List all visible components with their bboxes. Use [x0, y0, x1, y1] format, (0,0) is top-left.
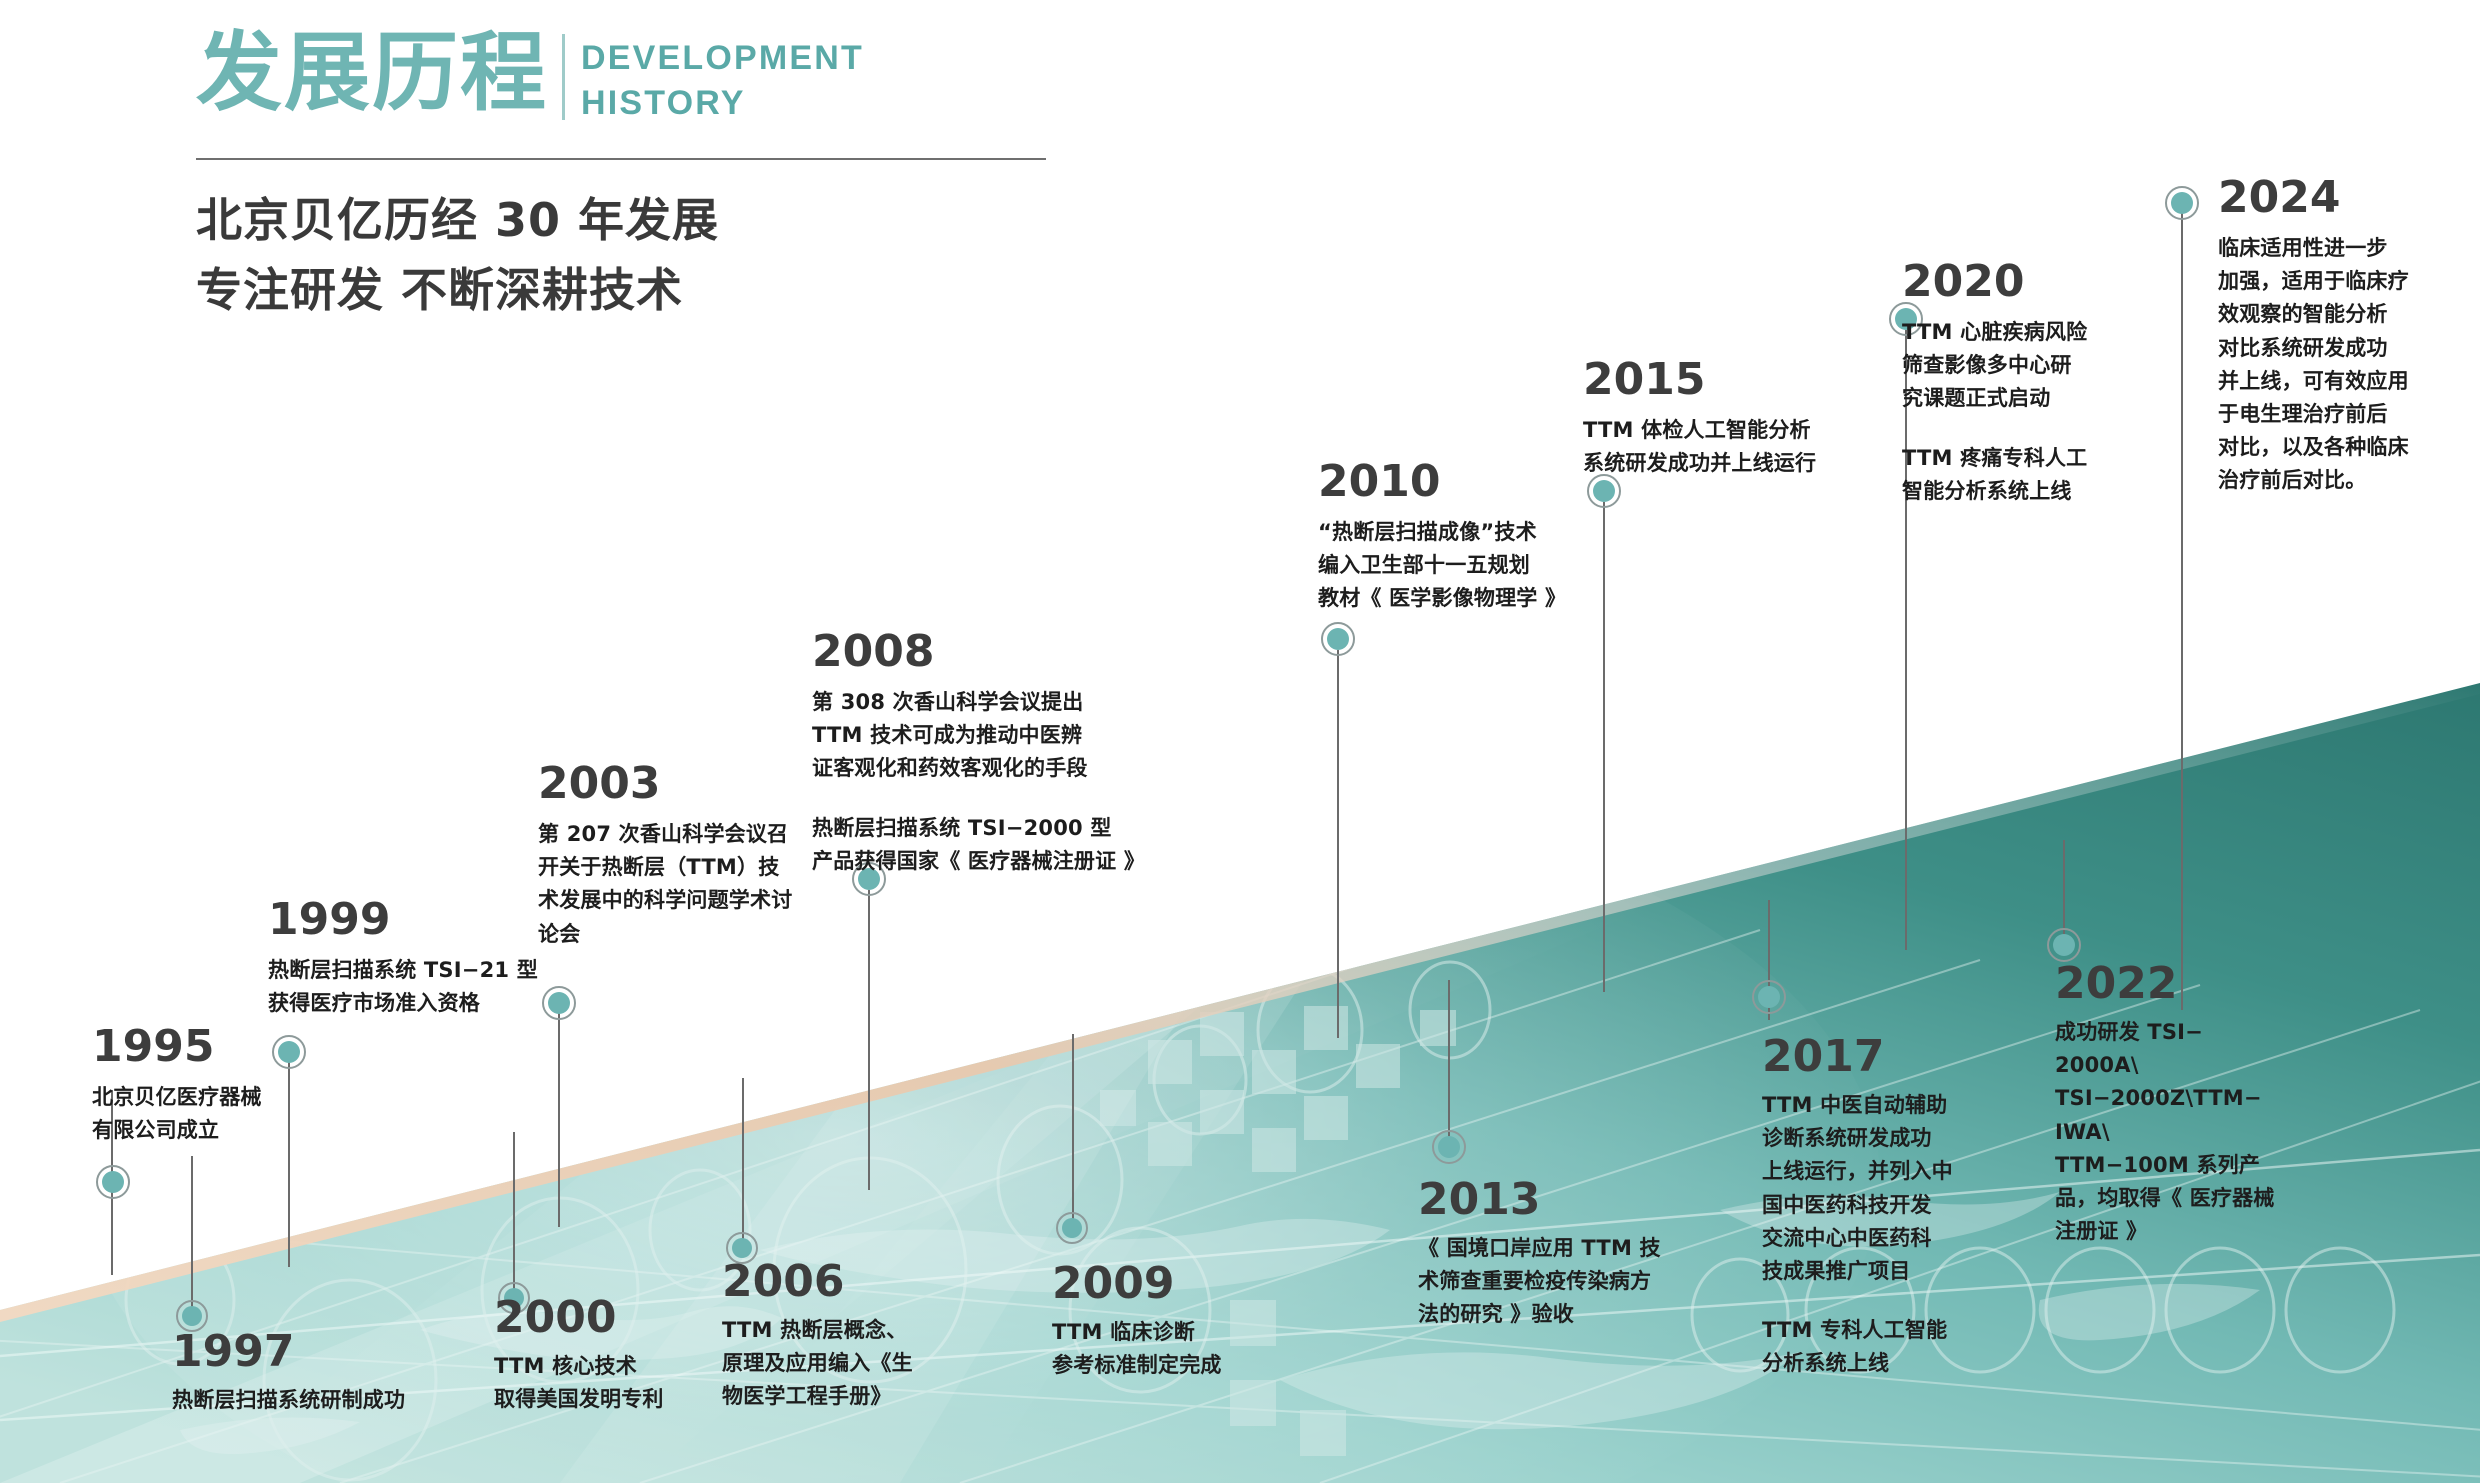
timeline-year-2000: 2000: [494, 1296, 664, 1340]
timeline-item-2022[interactable]: 2022 成功研发 TSI− 2000A\ TSI−2000Z\TTM− IWA…: [2055, 962, 2275, 1248]
timeline-year-2006: 2006: [722, 1260, 913, 1304]
stem-2006: [742, 1078, 744, 1254]
dot-core: [1438, 1136, 1460, 1158]
timeline-text-1999: 热断层扫描系统 TSI−21 型 获得医疗市场准入资格: [268, 954, 538, 1020]
timeline-year-2013: 2013: [1418, 1178, 1661, 1222]
title-en-line1: DEVELOPMENT: [581, 36, 864, 81]
timeline-item-1999[interactable]: 1999 热断层扫描系统 TSI−21 型 获得医疗市场准入资格: [268, 898, 538, 1020]
dot-core: [182, 1306, 202, 1326]
page-subtitle: 北京贝亿历经 30 年发展 专注研发 不断深耕技术: [196, 186, 1046, 326]
timeline-dot-2024[interactable]: [2165, 186, 2199, 220]
timeline-year-2020: 2020: [1902, 260, 2087, 304]
stem-2010: [1337, 650, 1339, 1038]
subtitle-line-1: 北京贝亿历经 30 年发展: [196, 186, 1046, 256]
timeline-year-1997: 1997: [172, 1330, 405, 1374]
stem-1997: [191, 1156, 193, 1316]
timeline-text-2015: TTM 体检人工智能分析 系统研发成功并上线运行: [1583, 414, 1816, 480]
timeline-item-1997[interactable]: 1997 热断层扫描系统研制成功: [172, 1330, 405, 1417]
timeline-year-1999: 1999: [268, 898, 538, 942]
timeline-text-2017-secondary: TTM 专科人工智能 分析系统上线: [1762, 1314, 1953, 1380]
title-row: 发展历程 DEVELOPMENT HISTORY: [196, 30, 1046, 126]
stem-2008: [868, 890, 870, 1190]
timeline-year-2022: 2022: [2055, 962, 2275, 1006]
page-header: 发展历程 DEVELOPMENT HISTORY 北京贝亿历经 30 年发展 专…: [196, 30, 1046, 326]
timeline-year-2009: 2009: [1052, 1262, 1222, 1306]
timeline-text-1995: 北京贝亿医疗器械 有限公司成立: [92, 1081, 262, 1147]
timeline-year-2015: 2015: [1583, 358, 1816, 402]
dot-core: [2053, 934, 2075, 956]
page-title-en: DEVELOPMENT HISTORY: [581, 30, 864, 126]
timeline-dot-2010[interactable]: [1321, 622, 1355, 656]
title-en-line2: HISTORY: [581, 81, 864, 126]
timeline-item-1995[interactable]: 1995 北京贝亿医疗器械 有限公司成立: [92, 1025, 262, 1147]
timeline-item-2015[interactable]: 2015 TTM 体检人工智能分析 系统研发成功并上线运行: [1583, 358, 1816, 480]
timeline-dot-2022[interactable]: [2047, 928, 2081, 962]
timeline-text-2017: TTM 中医自动辅助 诊断系统研发成功 上线运行，并列入中 国中医药科技开发 交…: [1762, 1089, 1953, 1288]
dot-core: [1758, 986, 1780, 1008]
timeline-item-2024[interactable]: 2024 临床适用性进一步 加强，适用于临床疗 效观察的智能分析 对比系统研发成…: [2218, 176, 2409, 497]
dot-core: [1327, 628, 1349, 650]
timeline-item-2013[interactable]: 2013 《 国境口岸应用 TTM 技 术筛查重要检疫传染病方 法的研究 》验收: [1418, 1178, 1661, 1332]
dot-core: [102, 1171, 124, 1193]
timeline-item-2008[interactable]: 2008 第 308 次香山科学会议提出 TTM 技术可成为推动中医辨 证客观化…: [812, 630, 1145, 878]
timeline-year-2003: 2003: [538, 762, 792, 806]
timeline-text-2020: TTM 心脏疾病风险 筛查影像多中心研 究课题正式启动: [1902, 316, 2087, 416]
timeline-text-2006: TTM 热断层概念、 原理及应用编入《生 物医学工程手册》: [722, 1314, 913, 1414]
page-title-cn: 发展历程: [196, 30, 548, 116]
timeline-item-2009[interactable]: 2009 TTM 临床诊断 参考标准制定完成: [1052, 1262, 1222, 1382]
timeline-text-2013: 《 国境口岸应用 TTM 技 术筛查重要检疫传染病方 法的研究 》验收: [1418, 1232, 1661, 1332]
timeline-item-2006[interactable]: 2006 TTM 热断层概念、 原理及应用编入《生 物医学工程手册》: [722, 1260, 913, 1414]
timeline-item-2010[interactable]: 2010 “热断层扫描成像”技术 编入卫生部十一五规划 教材《 医学影像物理学 …: [1318, 460, 1566, 616]
stem-2003: [558, 1012, 560, 1227]
timeline-year-2008: 2008: [812, 630, 1145, 674]
timeline-year-1995: 1995: [92, 1025, 262, 1069]
timeline-text-2020-secondary: TTM 疼痛专科人工 智能分析系统上线: [1902, 442, 2087, 508]
timeline-dot-2013[interactable]: [1432, 1130, 1466, 1164]
timeline-dot-2017[interactable]: [1752, 980, 1786, 1014]
timeline-text-2022: 成功研发 TSI− 2000A\ TSI−2000Z\TTM− IWA\ TTM…: [2055, 1016, 2275, 1248]
stem-1999: [288, 1062, 290, 1267]
timeline-item-2020[interactable]: 2020 TTM 心脏疾病风险 筛查影像多中心研 究课题正式启动 TTM 疼痛专…: [1902, 260, 2087, 508]
stem-2000: [513, 1132, 515, 1297]
timeline-text-2003: 第 207 次香山科学会议召 开关于热断层（TTM）技 术发展中的科学问题学术讨…: [538, 818, 792, 951]
subtitle-line-2: 专注研发 不断深耕技术: [196, 256, 1046, 326]
timeline-year-2017: 2017: [1762, 1035, 1953, 1079]
dot-core: [1593, 480, 1615, 502]
header-divider-rule: [196, 158, 1046, 160]
dot-core: [278, 1041, 300, 1063]
timeline-item-2000[interactable]: 2000 TTM 核心技术 取得美国发明专利: [494, 1296, 664, 1416]
timeline-item-2017[interactable]: 2017 TTM 中医自动辅助 诊断系统研发成功 上线运行，并列入中 国中医药科…: [1762, 1035, 1953, 1380]
stem-2009: [1072, 1034, 1074, 1234]
stem-2013: [1448, 980, 1450, 1150]
title-divider: [562, 34, 565, 120]
dot-core: [732, 1238, 752, 1258]
timeline-dot-2009[interactable]: [1056, 1212, 1088, 1244]
timeline-text-2008-secondary: 热断层扫描系统 TSI−2000 型 产品获得国家《 医疗器械注册证 》: [812, 812, 1145, 878]
timeline-year-2024: 2024: [2218, 176, 2409, 220]
stem-2024: [2181, 210, 2183, 1010]
timeline-text-2000: TTM 核心技术 取得美国发明专利: [494, 1350, 664, 1416]
dot-core: [1062, 1218, 1082, 1238]
dot-core: [548, 992, 570, 1014]
dot-core: [2171, 192, 2193, 214]
timeline-item-2003[interactable]: 2003 第 207 次香山科学会议召 开关于热断层（TTM）技 术发展中的科学…: [538, 762, 792, 951]
timeline-text-1997: 热断层扫描系统研制成功: [172, 1384, 405, 1417]
timeline-text-2024: 临床适用性进一步 加强，适用于临床疗 效观察的智能分析 对比系统研发成功 并上线…: [2218, 232, 2409, 497]
timeline-dot-1995[interactable]: [96, 1165, 130, 1199]
timeline-dot-2003[interactable]: [542, 986, 576, 1020]
timeline-dot-1999[interactable]: [272, 1035, 306, 1069]
timeline-text-2009: TTM 临床诊断 参考标准制定完成: [1052, 1316, 1222, 1382]
stem-2015: [1603, 502, 1605, 992]
timeline-year-2010: 2010: [1318, 460, 1566, 504]
timeline-text-2008: 第 308 次香山科学会议提出 TTM 技术可成为推动中医辨 证客观化和药效客观…: [812, 686, 1145, 786]
timeline-text-2010: “热断层扫描成像”技术 编入卫生部十一五规划 教材《 医学影像物理学 》: [1318, 516, 1566, 616]
